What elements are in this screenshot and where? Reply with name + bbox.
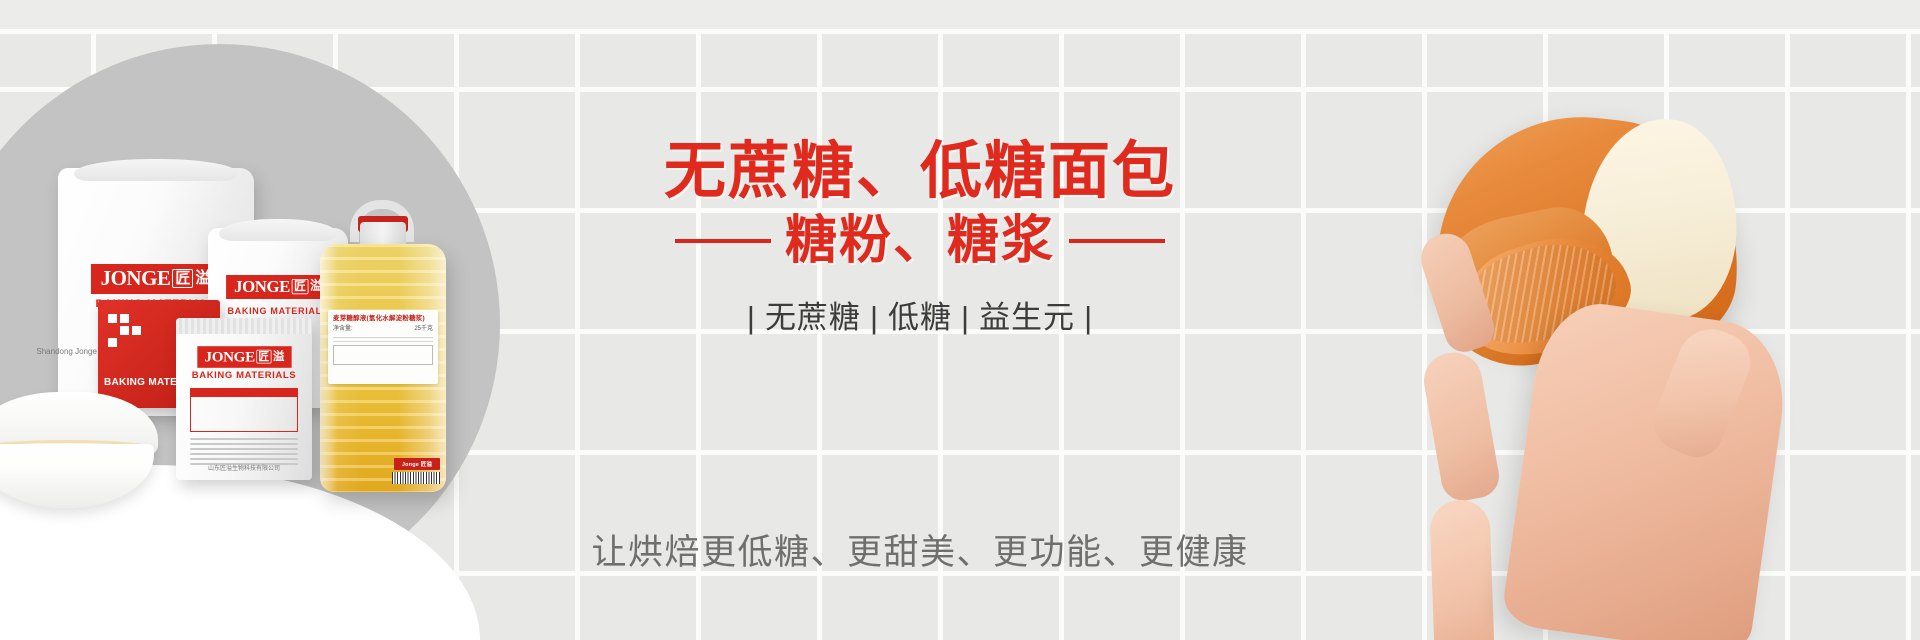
jug-label-table [333,345,433,365]
headline-secondary: 糖粉、糖浆 [785,215,1055,267]
sachet-info-bar [191,389,297,397]
sugar-powder-bowl [0,392,202,512]
logo-latin-text: JONGE [234,278,290,295]
feature-separator: | [747,300,756,335]
feature-separator: | [1084,300,1093,335]
sack-small-sub: BAKING MATERIALS [227,306,328,316]
tagline: 让烘焙更低糖、更甜美、更功能、更健康 [500,524,1340,575]
sachet-brand: JONGE 匠 溢 [176,342,312,372]
jug-label-title: 麦芽糖醇液(氢化水解淀粉糖浆) [333,314,433,323]
sachet-info-box [190,388,298,432]
syrup-jug: 麦芽糖醇液(氢化水解淀粉糖浆) 净含量: 25千克 Jonge 匠溢 [320,200,446,492]
jonge-logo: JONGE 匠 溢 [226,275,331,299]
feature-item-0: 无蔗糖 [765,300,861,335]
finger-ring [1420,348,1503,504]
barcode-icon [392,472,440,484]
jug-brand-badge: Jonge 匠溢 [394,458,440,470]
rule-right [1069,239,1165,243]
feature-item-1: 低糖 [888,300,952,335]
right-fade [1800,0,1920,640]
feature-list: |无蔗糖|低糖|益生元| [620,292,1220,337]
hand-holding-bread [1432,232,1772,632]
checker-pattern-icon [108,314,142,348]
finger-middle [1429,499,1495,640]
promo-banner: JONGE 匠 溢 BAKING MATERIALS Shandong Jong… [0,0,1920,640]
sachet-footnote: 山东匠溢生物科技有限公司 [208,465,280,474]
sachet-seal [176,318,312,334]
logo-latin-text: JONGE [101,268,171,289]
jug-body: 麦芽糖醇液(氢化水解淀粉糖浆) 净含量: 25千克 Jonge 匠溢 [320,244,446,492]
jug-label: 麦芽糖醇液(氢化水解淀粉糖浆) 净含量: 25千克 [328,310,438,384]
sachet-sub: BAKING MATERIALS [176,370,312,381]
jonge-logo: JONGE 匠 溢 [91,264,222,294]
logo-cn-char-1: 匠 [172,269,193,288]
feature-separator: | [870,300,879,335]
jonge-logo: JONGE 匠 溢 [197,346,291,368]
feature-separator: | [961,300,970,335]
product-group: JONGE 匠 溢 BAKING MATERIALS Shandong Jong… [0,0,560,640]
logo-cn-char-1: 匠 [291,279,308,294]
jug-net-weight-label: 净含量: [333,325,353,334]
logo-latin-text: JONGE [204,349,254,364]
rule-left [675,239,771,243]
palm [1500,296,1793,640]
copy-block: 无蔗糖、低糖面包 糖粉、糖浆 |无蔗糖|低糖|益生元| 让烘焙更低糖、更甜美、更… [620,0,1220,640]
finger-pinky [1415,227,1500,357]
bowl-body [0,444,154,508]
feature-item-2: 益生元 [979,300,1075,335]
headline-primary: 无蔗糖、低糖面包 [620,141,1220,203]
jug-net-weight-value: 25千克 [414,325,433,334]
logo-cn-char-1: 匠 [256,350,271,364]
headline-secondary-row: 糖粉、糖浆 [580,215,1260,267]
logo-cn-char-2: 溢 [272,351,284,363]
sachet-text-lines [190,438,298,468]
